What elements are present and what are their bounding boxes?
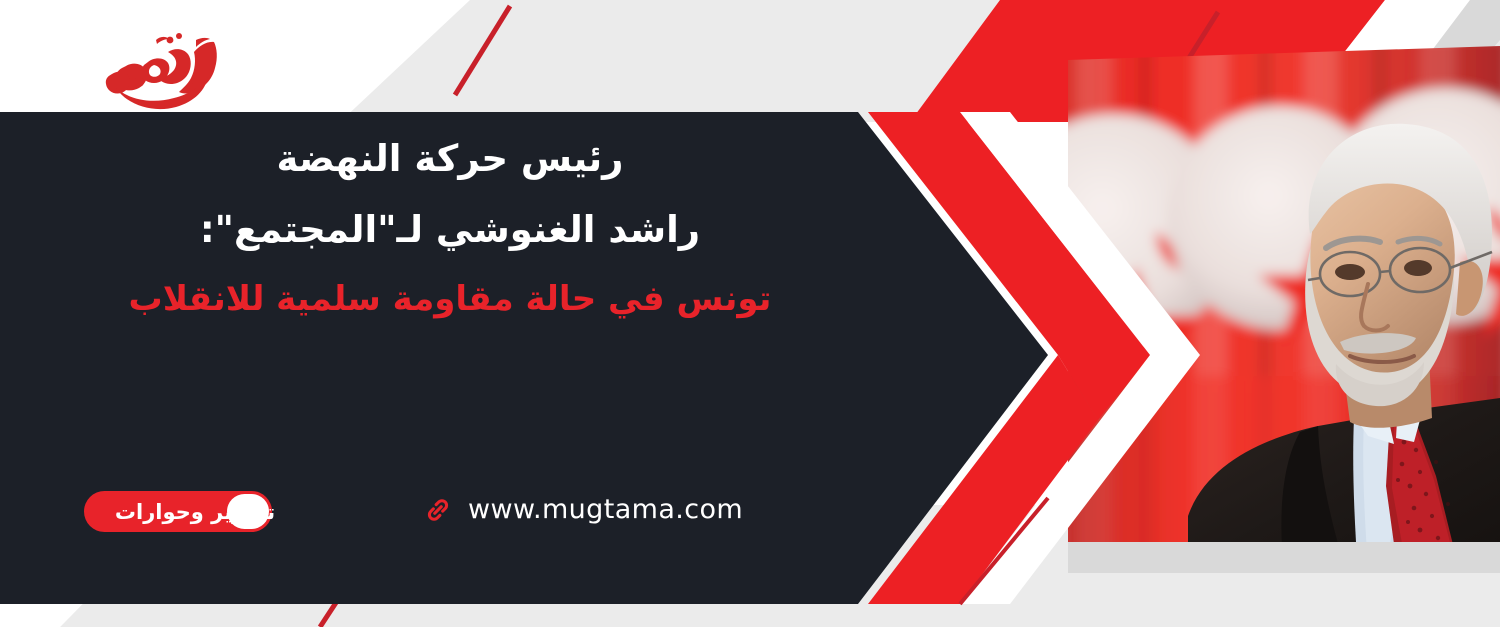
website-url: www.mugtama.com: [468, 494, 743, 525]
mugtama-logo-glyph: [96, 22, 230, 112]
headline-line-1: رئيس حركة النهضة: [0, 140, 900, 177]
headline-block: رئيس حركة النهضة راشد الغنوشي لـ"المجتمع…: [0, 140, 900, 316]
news-banner: رئيس حركة النهضة راشد الغنوشي لـ"المجتمع…: [0, 0, 1500, 627]
mugtama-logo[interactable]: [96, 22, 230, 112]
website-row[interactable]: www.mugtama.com: [424, 494, 743, 525]
portrait-photo: [1068, 46, 1500, 573]
link-icon: [424, 496, 452, 524]
badge-white-cap: [227, 494, 269, 529]
headline-line-3: تونس في حالة مقاومة سلمية للانقلاب: [0, 282, 900, 316]
headline-line-2: راشد الغنوشي لـ"المجتمع":: [0, 211, 900, 248]
category-badge[interactable]: تقارير وحوارات: [84, 491, 272, 532]
portrait-photo-graphic: [1068, 46, 1500, 573]
